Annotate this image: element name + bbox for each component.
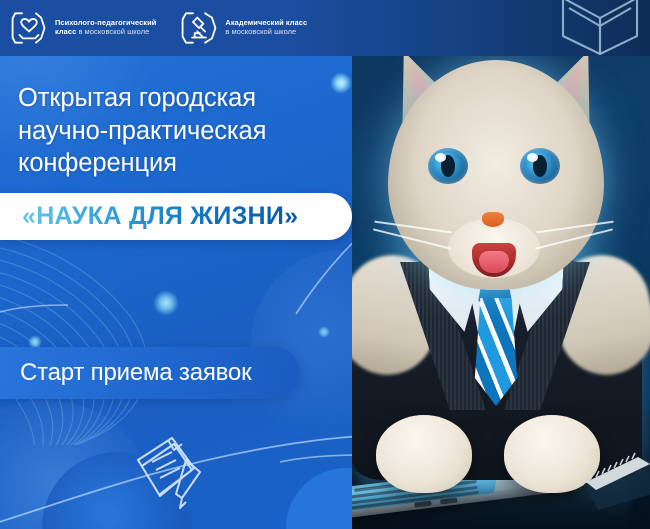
- heart-in-hands-hexagon-icon: [10, 9, 48, 47]
- microscope-hexagon-icon: [180, 9, 218, 47]
- partner-logos: Психолого-педагогический класс в московс…: [0, 0, 650, 56]
- conference-name: «НАУКА ДЛЯ ЖИЗНИ»: [22, 202, 298, 231]
- glow-dot: [318, 326, 330, 338]
- logo-line2: класс в московской школе: [55, 28, 156, 37]
- accent-line-right: [280, 452, 352, 468]
- cat-eye-left: [428, 148, 468, 184]
- eye-glint: [435, 153, 446, 162]
- spiral-notebook: [580, 440, 650, 510]
- logo-text: Академический класс в московской школе: [225, 19, 307, 36]
- cat-photo: [340, 0, 650, 529]
- logo-text: Психолого-педагогический класс в московс…: [55, 19, 156, 36]
- logo-psychological-pedagogical-class: Психолого-педагогический класс в московс…: [10, 9, 156, 47]
- glow-dot: [153, 290, 179, 316]
- accent-curve-upper-right: [236, 236, 352, 316]
- eye-glint: [527, 153, 538, 162]
- conference-name-badge: «НАУКА ДЛЯ ЖИЗНИ»: [0, 193, 352, 240]
- logo-academic-class: Академический класс в московской школе: [180, 9, 307, 47]
- logo-line2: в московской школе: [225, 28, 307, 37]
- notebook-and-pen-icon: [128, 432, 210, 518]
- cat-eye-right: [520, 148, 560, 184]
- cat-paw-left: [376, 415, 472, 493]
- left-content-panel: [0, 0, 352, 529]
- page-title: Открытая городская научно-практическая к…: [18, 82, 348, 180]
- status-badge: Старт приема заявок: [0, 347, 300, 399]
- cta-label: Старт приема заявок: [20, 359, 251, 387]
- cat-tongue: [479, 251, 509, 273]
- cat-nose: [482, 212, 504, 227]
- conference-poster: Психолого-педагогический класс в московс…: [0, 0, 650, 529]
- accent-line-left: [0, 300, 70, 320]
